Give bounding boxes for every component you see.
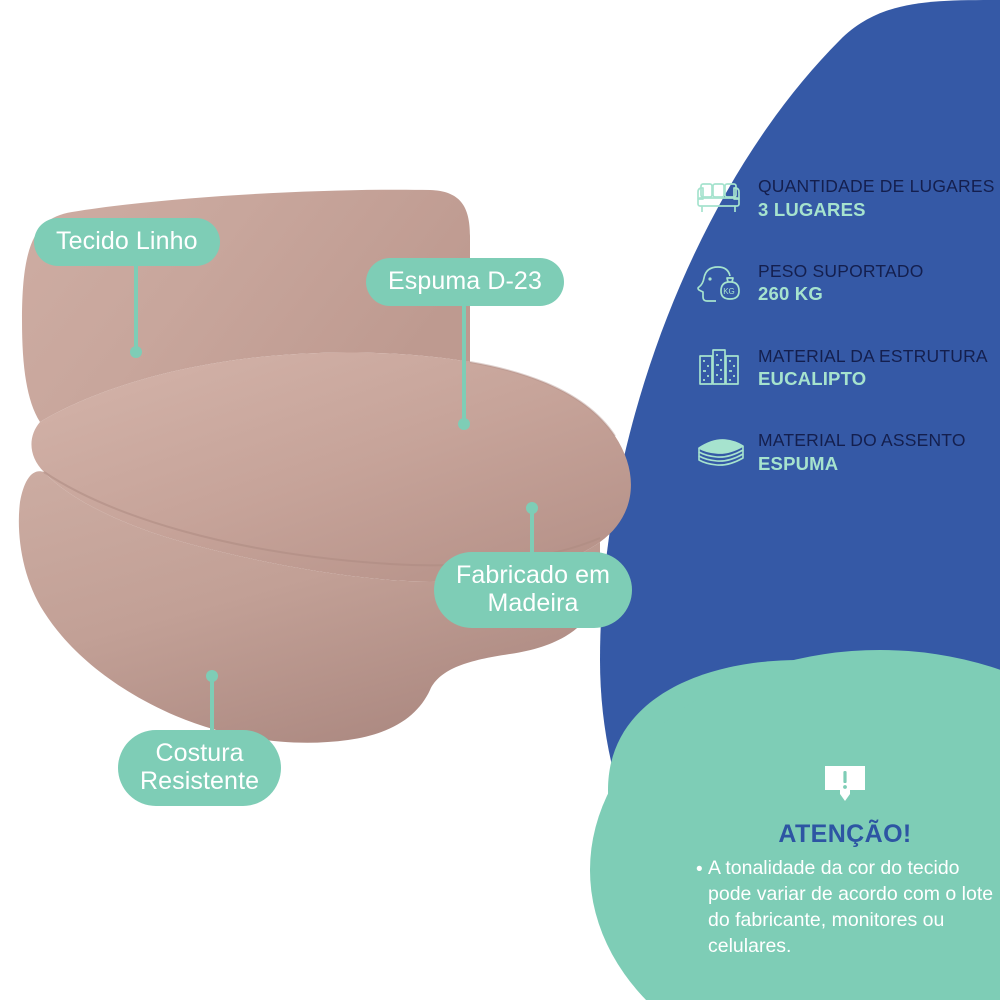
warning-book-glyph: [822, 762, 868, 806]
spec-list: QUANTIDADE DE LUGARES 3 LUGARES KG PESO …: [694, 176, 1000, 515]
leader-dot: [206, 670, 218, 682]
leader-stem: [210, 676, 214, 732]
callout-espuma-d23: Espuma D-23: [366, 258, 564, 306]
spec-row-material-da-estrutura: MATERIAL DA ESTRUTURA EUCALIPTO: [694, 346, 1000, 391]
callout-label-tecido-linho[interactable]: Tecido Linho: [34, 218, 220, 266]
infographic-canvas: Tecido Linho Espuma D-23 Fabricado em Ma…: [0, 0, 1000, 1000]
svg-text:KG: KG: [723, 287, 735, 296]
spec-text: MATERIAL DA ESTRUTURA EUCALIPTO: [748, 346, 988, 391]
spec-text: QUANTIDADE DE LUGARES 3 LUGARES: [748, 176, 995, 221]
callout-tecido-linho: Tecido Linho: [34, 218, 220, 266]
spec-label: QUANTIDADE DE LUGARES: [758, 176, 995, 197]
callout-label-fabricado-madeira[interactable]: Fabricado em Madeira: [434, 552, 632, 628]
leader-stem: [134, 266, 138, 352]
attention-title: ATENÇÃO!: [690, 820, 1000, 849]
leader-stem: [530, 508, 534, 554]
spec-text: MATERIAL DO ASSENTO ESPUMA: [748, 430, 966, 475]
spec-row-material-do-assento: MATERIAL DO ASSENTO ESPUMA: [694, 430, 1000, 475]
spec-text: PESO SUPORTADO 260 KG: [748, 261, 924, 306]
leader-dot: [526, 502, 538, 514]
spec-row-peso-suportado: KG PESO SUPORTADO 260 KG: [694, 261, 1000, 306]
spec-label: PESO SUPORTADO: [758, 261, 924, 282]
leader-dot: [458, 418, 470, 430]
foam-layers-icon: [694, 433, 748, 473]
attention-text: A tonalidade da cor do tecido pode varia…: [708, 857, 993, 957]
spec-label: MATERIAL DO ASSENTO: [758, 430, 966, 451]
callout-label-costura-resistente[interactable]: Costura Resistente: [118, 730, 281, 806]
attention-block: ATENÇÃO! • A tonalidade da cor do tecido…: [690, 762, 1000, 960]
callout-label-espuma-d23[interactable]: Espuma D-23: [366, 258, 564, 306]
wood-planks-icon: [694, 346, 748, 390]
spec-label: MATERIAL DA ESTRUTURA: [758, 346, 988, 367]
leader-stem: [462, 306, 466, 424]
warning-book-icon: [690, 762, 1000, 806]
spec-value: ESPUMA: [758, 452, 966, 475]
spec-value: 3 LUGARES: [758, 198, 995, 221]
spec-row-quantidade-de-lugares: QUANTIDADE DE LUGARES 3 LUGARES: [694, 176, 1000, 221]
attention-text-wrap: • A tonalidade da cor do tecido pode var…: [690, 856, 1000, 960]
spec-value: EUCALIPTO: [758, 367, 988, 390]
callout-fabricado-madeira: Fabricado em Madeira: [434, 552, 632, 628]
weight-head-icon: KG: [694, 261, 748, 305]
sofa-icon: [694, 178, 748, 218]
callout-costura-resistente: Costura Resistente: [118, 730, 281, 806]
spec-value: 260 KG: [758, 282, 924, 305]
leader-dot: [130, 346, 142, 358]
bullet-glyph: •: [696, 857, 703, 882]
